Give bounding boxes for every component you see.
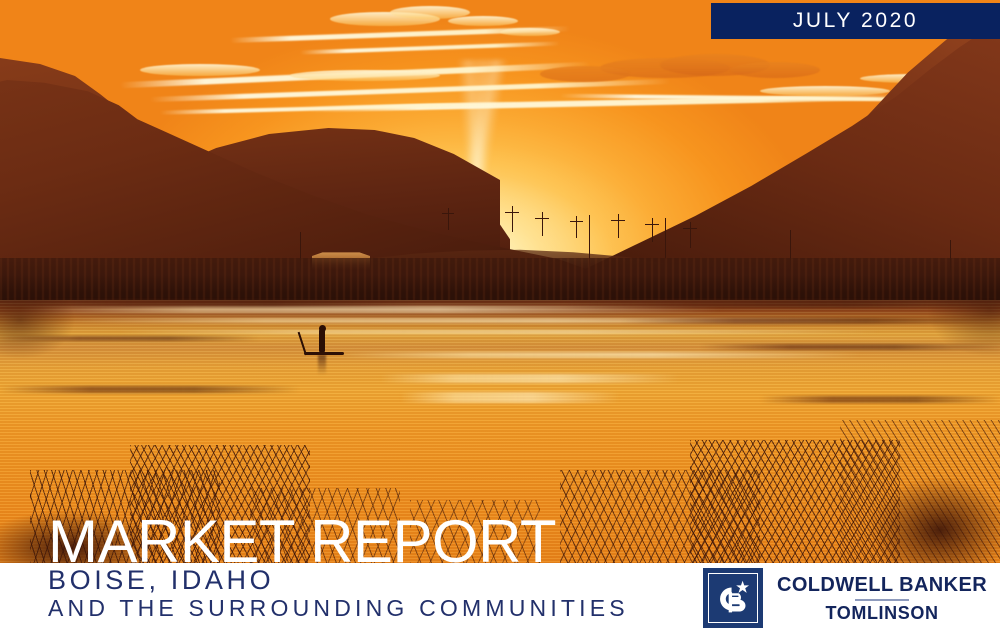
foreground-shrub [0, 300, 120, 390]
power-pylon [512, 206, 513, 232]
power-pylon-arm [505, 212, 519, 213]
page-title: MARKET REPORT [48, 512, 556, 563]
power-pylon [618, 214, 619, 238]
cloud-puff [140, 64, 260, 76]
report-cover-page: MARKET REPORT JULY 2020 BOISE, IDAHO AND… [0, 0, 1000, 644]
water-light-streak [340, 352, 860, 358]
power-pylon-arm [535, 218, 549, 219]
power-pylon-arm [570, 221, 583, 222]
water-light-streak [400, 392, 620, 403]
cloud-puff [448, 16, 518, 26]
foreground-shrub [840, 420, 1000, 563]
subtitle-location: BOISE, IDAHO [48, 565, 629, 595]
cloud-puff-dark [540, 66, 630, 82]
logo-divider [855, 599, 909, 601]
power-pylon-arm [611, 220, 625, 221]
power-pylon-arm [683, 228, 697, 229]
water-light-streak [380, 374, 680, 383]
cloud-puff [760, 86, 890, 96]
brand-wordmark: COLDWELL BANKER TOMLINSON [777, 574, 987, 623]
brand-logo: COLDWELL BANKER TOMLINSON [703, 568, 987, 628]
power-pylon [576, 216, 577, 238]
date-banner-label: JULY 2020 [793, 9, 918, 33]
power-pylon-arm [442, 213, 454, 214]
paddleboarder-head [319, 325, 326, 332]
cloud-puff [290, 70, 440, 81]
cover-photo: MARKET REPORT [0, 0, 1000, 563]
brand-name: COLDWELL BANKER [777, 574, 987, 596]
cloud-puff [500, 28, 560, 36]
subtitle-block: BOISE, IDAHO AND THE SURROUNDING COMMUNI… [48, 565, 629, 622]
power-pylon [542, 212, 543, 236]
power-pylon [448, 208, 449, 230]
power-pylon-arm [645, 224, 659, 225]
paddleboarder-reflection [318, 355, 326, 375]
power-pylon [652, 218, 653, 242]
cloud-puff-dark [730, 62, 820, 78]
foreground-shrub [900, 300, 1000, 410]
date-banner: JULY 2020 [711, 3, 1000, 39]
brand-affiliate-name: TOMLINSON [825, 603, 938, 623]
cb-star-glyph [709, 574, 757, 622]
power-pylon [690, 222, 691, 248]
water-light-streak [120, 330, 880, 334]
subtitle-communities: AND THE SURROUNDING COMMUNITIES [48, 595, 629, 622]
coldwell-banker-cb-star-icon [703, 568, 763, 628]
logo-mark-border [708, 573, 758, 623]
